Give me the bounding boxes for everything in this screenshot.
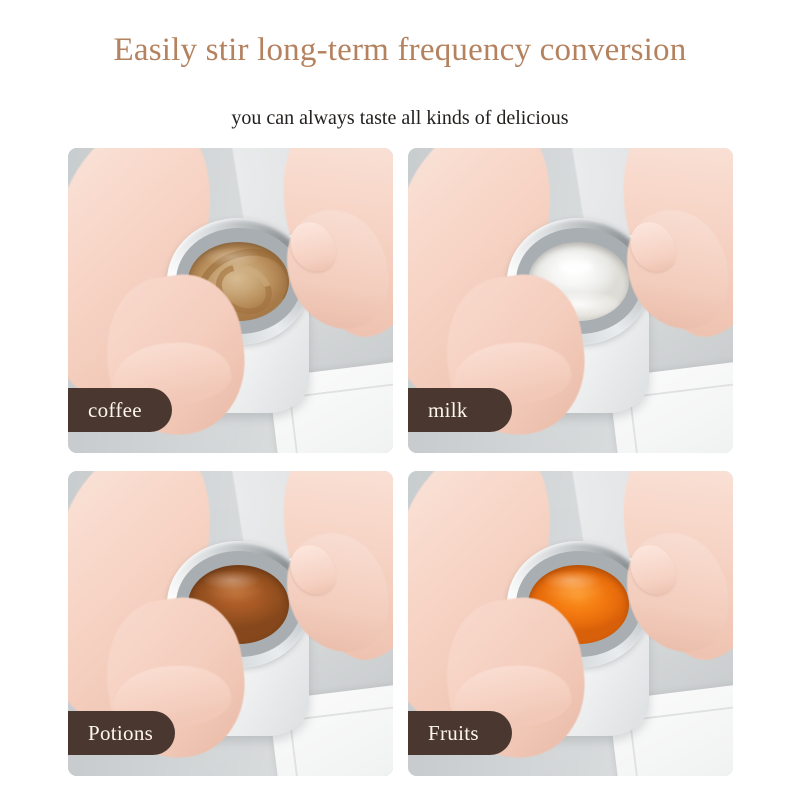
gallery-card-fruits[interactable]: Fruits bbox=[408, 471, 733, 776]
flavour-badge-fruits: Fruits bbox=[408, 711, 512, 755]
liquid-highlight bbox=[202, 570, 260, 590]
liquid-highlight bbox=[202, 247, 260, 267]
page-headline: Easily stir long-term frequency conversi… bbox=[0, 28, 800, 72]
flavour-badge-coffee: coffee bbox=[68, 388, 172, 432]
gallery-card-coffee[interactable]: coffee bbox=[68, 148, 393, 453]
product-feature-page: Easily stir long-term frequency conversi… bbox=[0, 0, 800, 800]
liquid-highlight bbox=[542, 570, 600, 590]
flavour-badge-milk: milk bbox=[408, 388, 512, 432]
page-subheadline: you can always taste all kinds of delici… bbox=[0, 104, 800, 132]
liquid-highlight bbox=[542, 247, 600, 267]
gallery-card-milk[interactable]: milk bbox=[408, 148, 733, 453]
flavour-badge-potions: Potions bbox=[68, 711, 175, 755]
flavour-gallery-grid: coffee bbox=[68, 148, 733, 776]
gallery-card-potions[interactable]: Potions bbox=[68, 471, 393, 776]
